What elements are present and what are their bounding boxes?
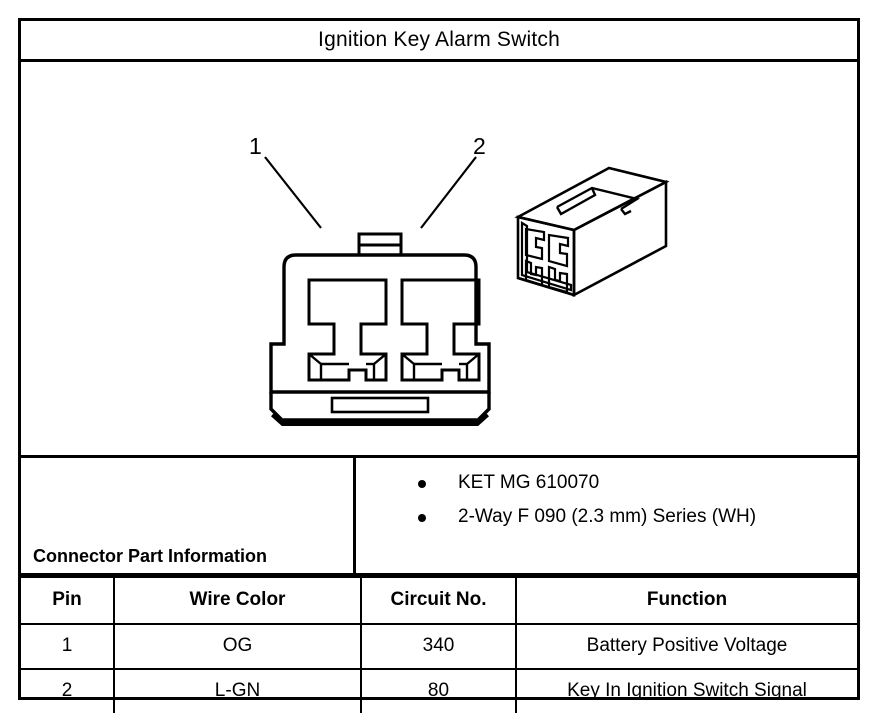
part-info-label-cell: Connector Part Information xyxy=(21,458,356,573)
bottom-flange xyxy=(271,392,489,420)
part-info-label: Connector Part Information xyxy=(21,546,267,573)
series-description-text: 2-Way F 090 (2.3 mm) Series (WH) xyxy=(436,506,756,528)
cell-pin: 2 xyxy=(21,669,114,713)
table-row: 2 L-GN 80 Key In Ignition Switch Signal xyxy=(21,669,857,713)
bullet-icon xyxy=(418,508,436,525)
part-number-text: KET MG 610070 xyxy=(436,472,599,494)
part-info-bullets-cell: KET MG 610070 2-Way F 090 (2.3 mm) Serie… xyxy=(356,458,857,573)
latch-tab xyxy=(359,234,401,255)
connector-part-information-row: Connector Part Information KET MG 610070… xyxy=(21,458,857,576)
iso-latch-rail xyxy=(557,188,637,214)
column-header-pin: Pin xyxy=(21,577,114,624)
connector-front-view xyxy=(271,234,489,423)
cell-circuit-no: 80 xyxy=(361,669,516,713)
callout-1-leader xyxy=(265,157,321,228)
callout-leader-lines xyxy=(265,157,476,228)
cell-pin: 1 xyxy=(21,624,114,669)
cell-wire-color: OG xyxy=(114,624,361,669)
figure-area: 1 2 xyxy=(21,62,857,458)
column-header-circuit-no: Circuit No. xyxy=(361,577,516,624)
callout-2-leader xyxy=(421,157,476,228)
part-info-bullet-item: 2-Way F 090 (2.3 mm) Series (WH) xyxy=(418,506,857,528)
table-row: 1 OG 340 Battery Positive Voltage xyxy=(21,624,857,669)
table-header-row: Pin Wire Color Circuit No. Function xyxy=(21,577,857,624)
callout-1-label: 1 xyxy=(249,133,262,159)
cell-wire-color: L-GN xyxy=(114,669,361,713)
part-info-bullet-item: KET MG 610070 xyxy=(418,472,857,494)
connector-diagram: 1 2 xyxy=(21,62,857,455)
connector-datasheet: Ignition Key Alarm Switch 1 2 xyxy=(18,18,860,700)
cavity-pin-2 xyxy=(402,280,479,380)
page-title: Ignition Key Alarm Switch xyxy=(318,28,560,52)
cell-function: Key In Ignition Switch Signal xyxy=(516,669,857,713)
column-header-function: Function xyxy=(516,577,857,624)
cell-circuit-no: 340 xyxy=(361,624,516,669)
callout-2-label: 2 xyxy=(473,133,486,159)
pin-table: Pin Wire Color Circuit No. Function 1 OG… xyxy=(21,576,857,713)
column-header-wire-color: Wire Color xyxy=(114,577,361,624)
title-row: Ignition Key Alarm Switch xyxy=(21,21,857,62)
cavity-pin-1 xyxy=(309,280,386,380)
connector-isometric-view xyxy=(518,168,666,295)
cell-function: Battery Positive Voltage xyxy=(516,624,857,669)
bullet-icon xyxy=(418,474,436,491)
